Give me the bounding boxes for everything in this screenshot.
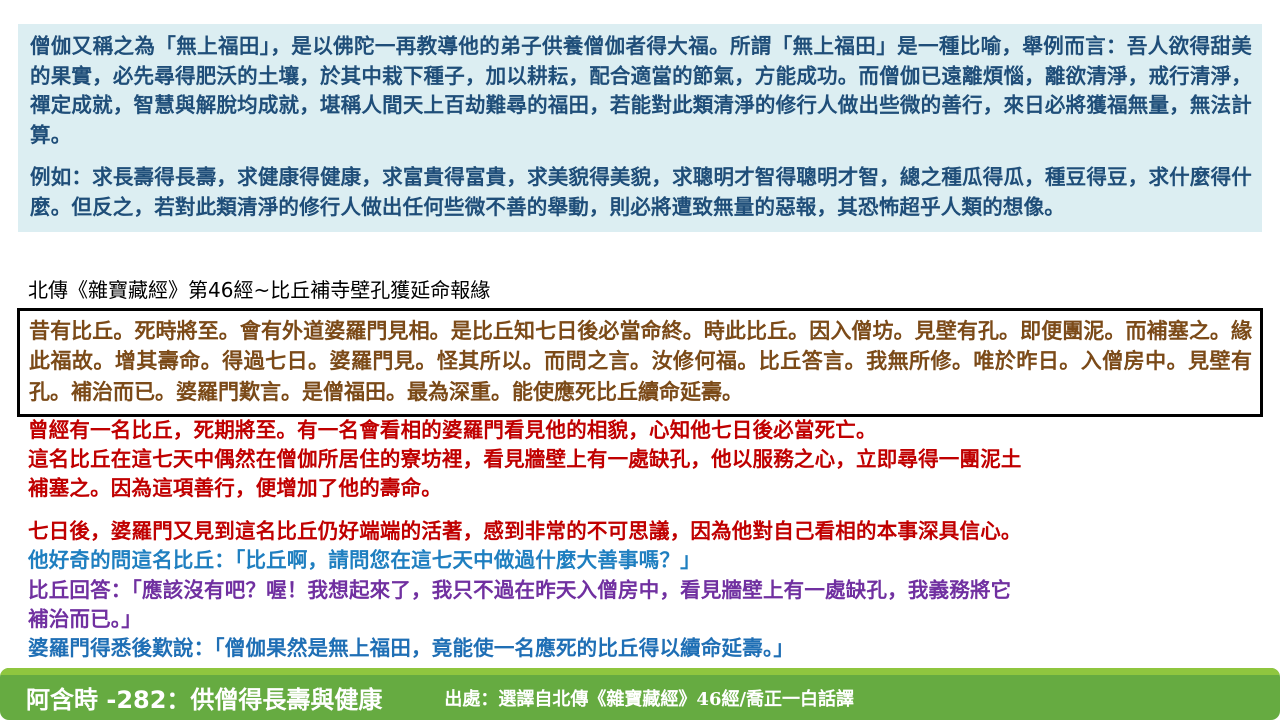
- translation-spacer: [28, 503, 1258, 517]
- translation-line-4: 七日後，婆羅門又見到這名比丘仍好端端的活著，感到非常的不可思議，因為他對自己看相…: [28, 517, 1258, 546]
- translation-block: 曾經有一名比丘，死期將至。有一名會看相的婆羅門看見他的相貌，心知他七日後必當死亡…: [28, 416, 1258, 663]
- intro-panel: 僧伽又稱之為「無上福田」，是以佛陀一再教導他的弟子供養僧伽者得大福。所謂「無上福…: [18, 24, 1262, 232]
- translation-line-2: 這名比丘在這七天中偶然在僧伽所居住的寮坊裡，看見牆壁上有一處缺孔，他以服務之心，…: [28, 445, 1258, 474]
- translation-line-1: 曾經有一名比丘，死期將至。有一名會看相的婆羅門看見他的相貌，心知他七日後必當死亡…: [28, 416, 1258, 445]
- sutra-heading: 北傳《雜寶藏經》第46經~比丘補寺壁孔獲延命報緣: [28, 278, 490, 302]
- translation-line-6: 比丘回答：「應該沒有吧？喔！我想起來了，我只不過在昨天入僧房中，看見牆壁上有一處…: [28, 576, 1258, 605]
- footer-source: 出處：選譯自北傳《雜寶藏經》46經/喬正一白話譯: [444, 685, 854, 711]
- sutra-body-text: 昔有比丘。死時將至。會有外道婆羅門見相。是比丘知七日後必當命終。時此比丘。因入僧…: [29, 316, 1252, 407]
- sutra-text-box: 昔有比丘。死時將至。會有外道婆羅門見相。是比丘知七日後必當命終。時此比丘。因入僧…: [17, 308, 1263, 417]
- footer-title: 阿含時 -282：供僧得長壽與健康: [26, 680, 382, 715]
- intro-paragraph-1: 僧伽又稱之為「無上福田」，是以佛陀一再教導他的弟子供養僧伽者得大福。所謂「無上福…: [30, 32, 1252, 150]
- footer-bar: 阿含時 -282：供僧得長壽與健康 出處：選譯自北傳《雜寶藏經》46經/喬正一白…: [0, 668, 1280, 720]
- translation-line-8: 婆羅門得悉後歎說：「僧伽果然是無上福田，竟能使一名應死的比丘得以續命延壽。」: [28, 634, 1258, 663]
- intro-paragraph-2: 例如：求長壽得長壽，求健康得健康，求富貴得富貴，求美貌得美貌，求聰明才智得聰明才…: [30, 163, 1252, 222]
- footer-content: 阿含時 -282：供僧得長壽與健康 出處：選譯自北傳《雜寶藏經》46經/喬正一白…: [0, 675, 1280, 720]
- translation-line-5: 他好奇的問這名比丘：「比丘啊，請問您在這七天中做過什麼大善事嗎？」: [28, 546, 1258, 575]
- translation-line-3: 補塞之。因為這項善行，便增加了他的壽命。: [28, 474, 1258, 503]
- footer-accent-stripe: [0, 668, 1280, 675]
- translation-line-7: 補治而已。」: [28, 605, 1258, 634]
